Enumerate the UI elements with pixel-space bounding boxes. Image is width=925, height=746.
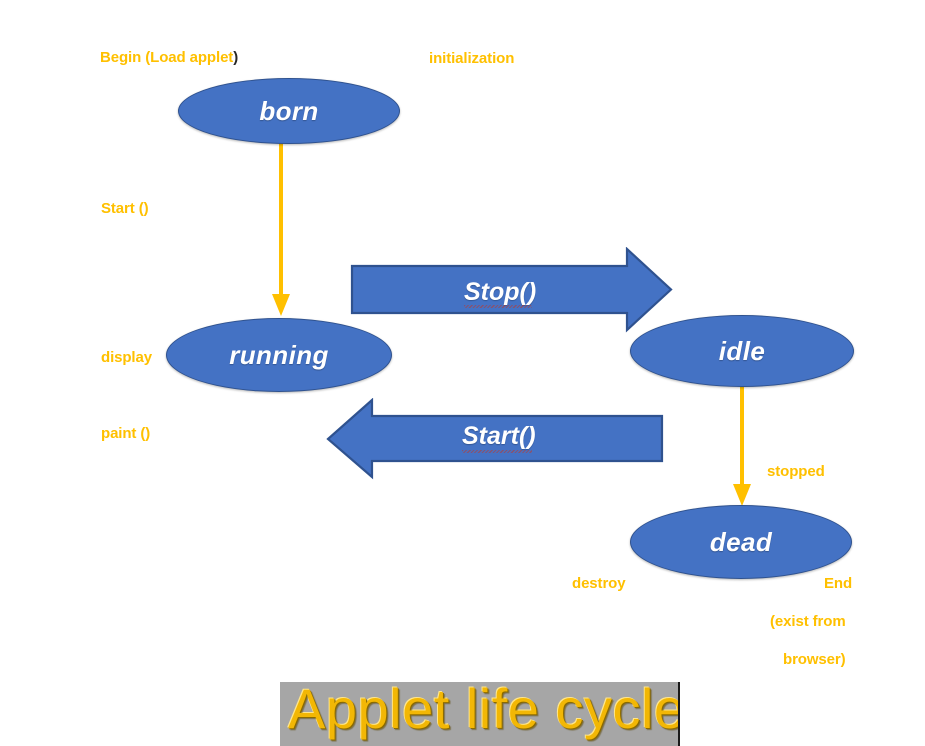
state-idle[interactable]: idle xyxy=(630,315,854,387)
state-born-label: born xyxy=(259,96,318,127)
spellcheck-squiggle-stop xyxy=(464,305,532,308)
annotation-initialization: initialization xyxy=(429,50,514,68)
page-title: Applet life cycle xyxy=(288,682,680,741)
annotation-begin-load-applet-close-paren: ) xyxy=(233,49,238,66)
annotation-exist-from: (exist from xyxy=(770,613,846,631)
annotation-end: End xyxy=(824,575,852,593)
annotation-paint-method: paint () xyxy=(101,425,150,443)
block-arrow-start-label: Start() xyxy=(462,422,536,451)
connector-idle-to-dead xyxy=(730,382,756,508)
annotation-begin-load-applet-text: Begin (Load applet xyxy=(100,49,233,66)
state-born[interactable]: born xyxy=(178,78,400,144)
state-dead-label: dead xyxy=(710,527,772,558)
spellcheck-squiggle-start xyxy=(462,450,532,453)
connector-born-to-running xyxy=(268,140,294,318)
annotation-destroy: destroy xyxy=(572,575,626,593)
annotation-browser: browser) xyxy=(783,651,846,669)
annotation-display: display xyxy=(101,349,152,367)
state-idle-label: idle xyxy=(719,336,765,367)
state-running[interactable]: running xyxy=(166,318,392,392)
state-dead[interactable]: dead xyxy=(630,505,852,579)
annotation-start-method: Start () xyxy=(101,200,149,218)
annotation-stopped: stopped xyxy=(767,463,825,481)
block-arrow-stop-label: Stop() xyxy=(464,278,536,307)
state-running-label: running xyxy=(229,340,329,371)
title-highlight-box[interactable]: Applet life cycle xyxy=(280,682,680,746)
annotation-begin-load-applet: Begin (Load applet) xyxy=(100,49,238,67)
applet-life-cycle-diagram: Stop() Start() born running idle dead Be… xyxy=(0,0,925,746)
